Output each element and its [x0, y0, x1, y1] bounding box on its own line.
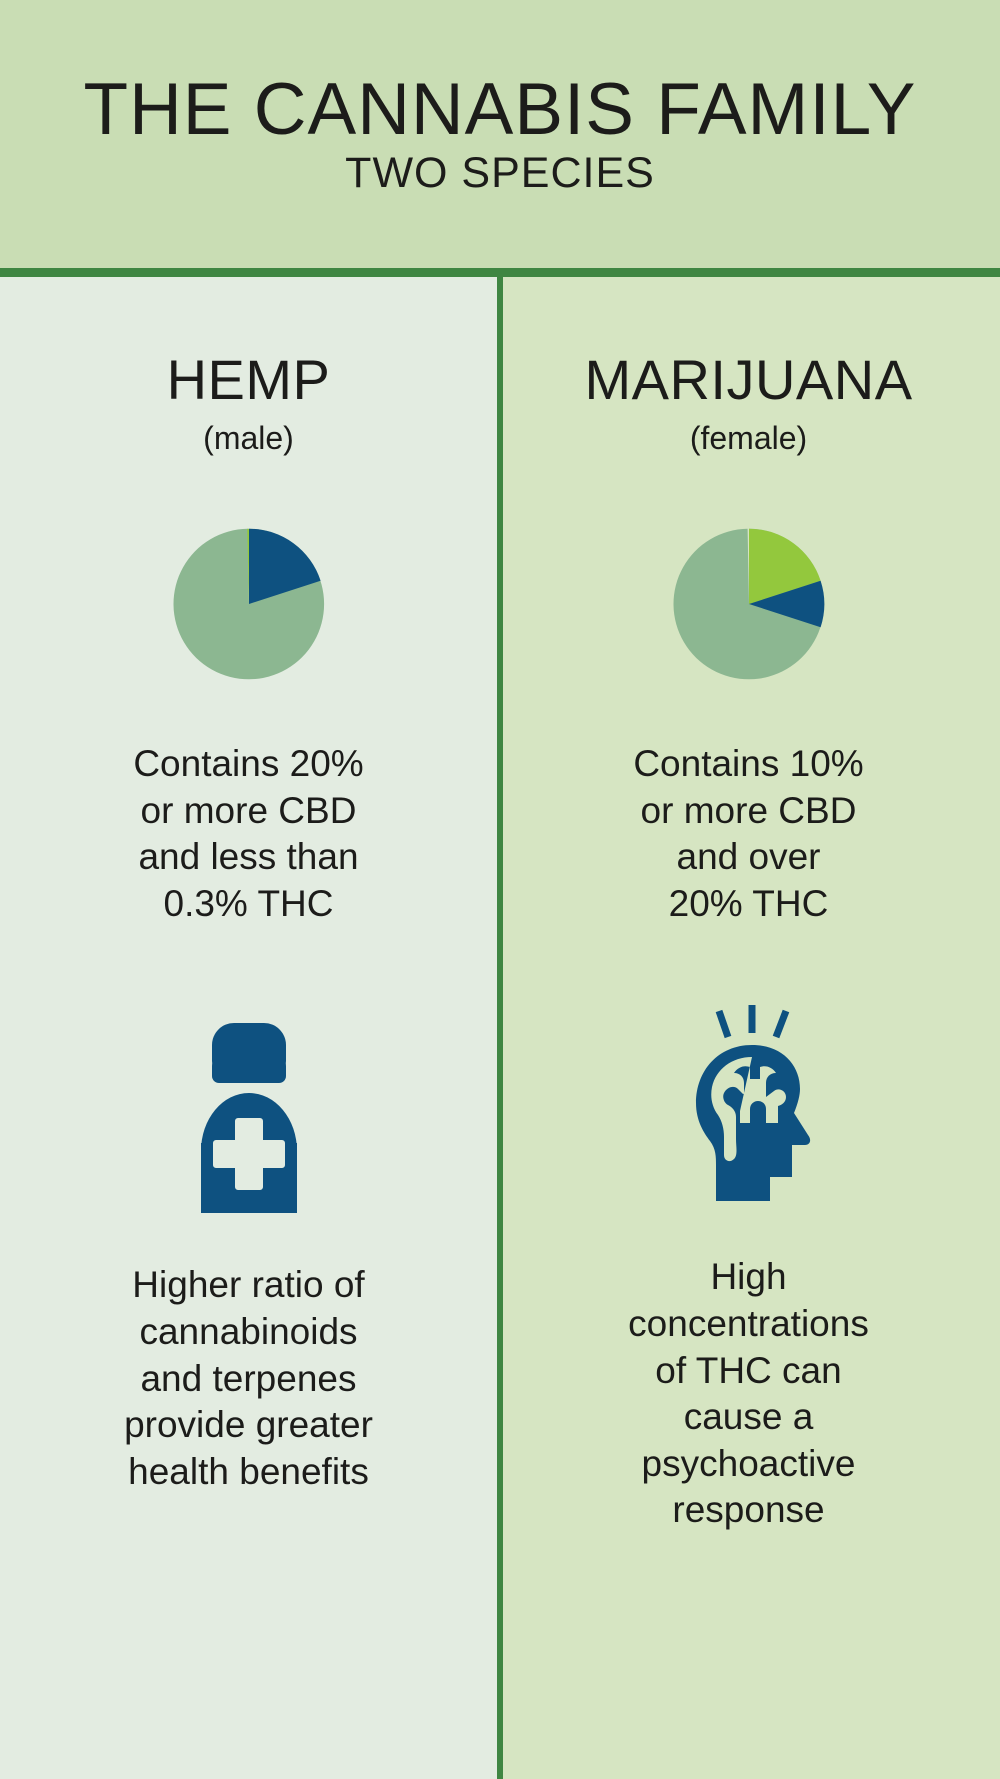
hemp-stat-text: Contains 20% or more CBD and less than 0… — [133, 741, 363, 927]
column-subtitle-marijuana: (female) — [690, 422, 807, 454]
marijuana-benefit-text: High concentrations of THC can cause a p… — [628, 1254, 869, 1534]
page-title: THE CANNABIS FAMILY — [84, 73, 917, 146]
marijuana-stat-text: Contains 10% or more CBD and over 20% TH… — [633, 741, 863, 927]
pie-chart-marijuana — [669, 524, 829, 689]
column-divider — [497, 277, 503, 1779]
medicine-bottle-icon — [193, 1023, 305, 1218]
column-marijuana: MARIJUANA (female) Contains 10% or more … — [497, 277, 1000, 1779]
column-title-marijuana: MARIJUANA — [584, 352, 912, 408]
column-title-hemp: HEMP — [167, 352, 331, 408]
pie-chart-hemp — [169, 524, 329, 689]
header-banner: THE CANNABIS FAMILY TWO SPECIES — [0, 0, 1000, 268]
cannabis-family-infographic: THE CANNABIS FAMILY TWO SPECIES HEMP — [0, 0, 1000, 1779]
head-brain-icon — [674, 1005, 824, 1210]
page-subtitle: TWO SPECIES — [345, 152, 655, 195]
hemp-benefit-text: Higher ratio of cannabinoids and terpene… — [124, 1262, 373, 1495]
column-hemp: HEMP (male) Contains 20% or more CBD and… — [0, 277, 497, 1779]
column-subtitle-hemp: (male) — [203, 422, 294, 454]
header-divider-rule — [0, 268, 1000, 277]
